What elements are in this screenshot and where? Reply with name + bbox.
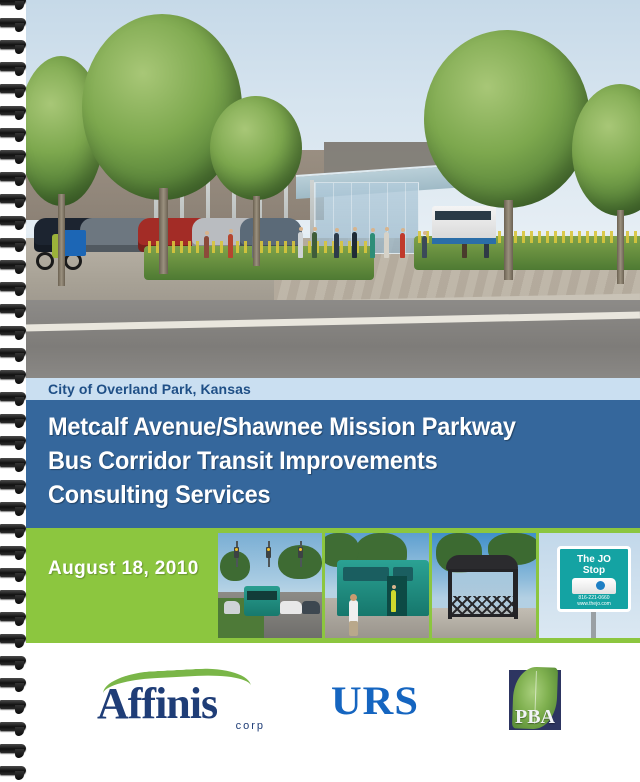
- document-date: August 18, 2010: [48, 558, 199, 580]
- urs-logo: URS: [331, 679, 441, 723]
- binding-coil: [0, 392, 26, 406]
- page-title-line-2: Bus Corridor Transit Improvements: [48, 444, 604, 478]
- binding-coil: [0, 590, 26, 604]
- hero-rendering: [24, 0, 640, 378]
- urs-wordmark: URS: [331, 677, 419, 724]
- binding-coil: [0, 414, 26, 428]
- binding-coil: [0, 238, 26, 252]
- binding-coil: [0, 370, 26, 384]
- affinis-corp-label: corp: [236, 720, 265, 732]
- binding-coil: [0, 700, 26, 714]
- binding-coil: [0, 172, 26, 186]
- binding-coil: [0, 260, 26, 274]
- sign-website: www.thejo.com: [560, 601, 628, 607]
- photo-the-jo-stop-sign: The JO Stop 816-221-0660 www.thejo.com: [539, 533, 640, 638]
- binding-coil: [0, 304, 26, 318]
- binding-coil: [0, 194, 26, 208]
- pba-logo: PBA: [503, 667, 567, 735]
- binding-coil: [0, 18, 26, 32]
- street-asphalt: [24, 300, 640, 378]
- photo-bus-on-metcalf-avenue: [218, 533, 322, 638]
- binding-coil: [0, 524, 26, 538]
- photo-passenger-boarding-bus: [325, 533, 429, 638]
- binding-coil: [0, 436, 26, 450]
- binding-coil: [0, 568, 26, 582]
- binding-coil: [0, 546, 26, 560]
- logo-row: Affinis corp URS PBA: [24, 643, 640, 782]
- tree-right-main: [424, 30, 590, 280]
- binding-coil: [0, 216, 26, 230]
- binding-coil: [0, 458, 26, 472]
- affinis-wordmark: Affinis: [97, 678, 217, 729]
- binding-coil: [0, 106, 26, 120]
- pba-wordmark: PBA: [509, 706, 561, 729]
- binding-coil: [0, 678, 26, 692]
- binding-coil: [0, 150, 26, 164]
- sign-line-1: The JO: [560, 554, 628, 565]
- binding-coil: [0, 128, 26, 142]
- binding-coil: [0, 62, 26, 76]
- binding-coil: [0, 480, 26, 494]
- binding-coil: [0, 612, 26, 626]
- binding-coil: [0, 722, 26, 736]
- page-title-line-3: Consulting Services: [48, 478, 604, 512]
- tree-right-far: [572, 84, 640, 284]
- binding-coil: [0, 502, 26, 516]
- report-cover: City of Overland Park, Kansas Metcalf Av…: [0, 0, 640, 782]
- page-title-line-1: Metcalf Avenue/Shawnee Mission Parkway: [48, 410, 604, 444]
- date-photo-band: August 18, 2010: [24, 528, 640, 643]
- photo-strip: The JO Stop 816-221-0660 www.thejo.com: [218, 533, 640, 638]
- binding-coil: [0, 84, 26, 98]
- spiral-binding: [0, 0, 26, 782]
- binding-coil: [0, 326, 26, 340]
- title-band: Metcalf Avenue/Shawnee Mission Parkway B…: [24, 400, 640, 528]
- binding-coil: [0, 0, 26, 10]
- binding-coil: [0, 766, 26, 780]
- sign-line-2: Stop: [560, 565, 628, 576]
- photo-bus-shelter: [432, 533, 536, 638]
- client-line: City of Overland Park, Kansas: [48, 381, 251, 397]
- binding-coil: [0, 744, 26, 758]
- tree-center: [210, 96, 302, 266]
- client-band: City of Overland Park, Kansas: [24, 378, 640, 400]
- binding-coil: [0, 656, 26, 670]
- sign-post: [591, 612, 596, 638]
- binding-coil: [0, 348, 26, 362]
- bus-icon: [572, 578, 616, 594]
- binding-coil: [0, 282, 26, 296]
- the-jo-stop-sign: The JO Stop 816-221-0660 www.thejo.com: [557, 546, 631, 612]
- binding-coil: [0, 634, 26, 648]
- binding-coil: [0, 40, 26, 54]
- affinis-logo: Affinis corp: [97, 670, 269, 732]
